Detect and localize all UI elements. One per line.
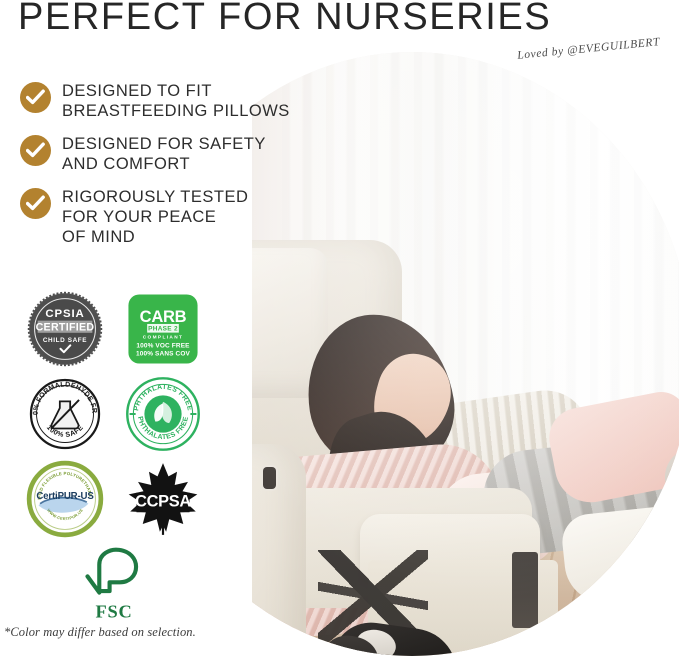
carb-compliant-label: COMPLIANT (143, 334, 184, 340)
carb-phase-2-badge: CARB PHASE 2 COMPLIANT 100% VOC FREE 100… (127, 293, 199, 365)
feature-line: DESIGNED TO FIT (62, 81, 290, 101)
badge-cell: CERTIFIED FLEXIBLE POLYURETHANE FOAM WWW… (16, 460, 114, 538)
feature-line: OF MIND (62, 227, 248, 247)
fsc-badge: FSC (77, 544, 151, 622)
list-item-label: DESIGNED FOR SAFETY AND COMFORT (62, 133, 266, 174)
photo-white-throw (560, 503, 679, 606)
feature-line: DESIGNED FOR SAFETY (62, 134, 266, 154)
feature-list: DESIGNED TO FIT BREASTFEEDING PILLOWS DE… (20, 80, 290, 259)
lifestyle-photo (252, 52, 679, 656)
badge-cell: PHTHALATES FREE PHTHALATES FREE (114, 376, 212, 452)
page-title: PERFECT FOR NURSERIES (18, 0, 551, 39)
photo-recliner-button (263, 467, 276, 489)
ccpsa-badge: CCPSA (124, 460, 202, 538)
list-item: DESIGNED FOR SAFETY AND COMFORT (20, 133, 290, 174)
flask-icon (51, 399, 79, 428)
cpsia-certified-label: CERTIFIED (36, 321, 95, 333)
badge-cell: 100% FORMALDEHYDE FREE 100% SAFE (16, 377, 114, 451)
check-circle-icon (20, 188, 51, 219)
photo-recliner-arm (252, 444, 306, 656)
certipur-us-badge: CERTIFIED FLEXIBLE POLYURETHANE FOAM WWW… (26, 460, 104, 538)
photo-recliner-mechanism-right (512, 552, 538, 628)
badge-row: CPSIA CERTIFIED CHILD SAFE CARB PHASE 2 … (16, 286, 212, 371)
lifestyle-photo-panel (252, 52, 679, 656)
feature-line: BREASTFEEDING PILLOWS (62, 101, 290, 121)
list-item: RIGOROUSLY TESTED FOR YOUR PEACE OF MIND (20, 186, 290, 247)
certipur-title: CertiPUR-US (36, 491, 94, 502)
carb-sans-cov-label: 100% SANS COV (136, 350, 191, 357)
badge-row: FSC (16, 541, 212, 625)
feature-line: FOR YOUR PEACE (62, 207, 248, 227)
badge-cell: CARB PHASE 2 COMPLIANT 100% VOC FREE 100… (114, 293, 212, 365)
carb-phase-label: PHASE 2 (148, 325, 178, 332)
list-item: DESIGNED TO FIT BREASTFEEDING PILLOWS (20, 80, 290, 121)
feature-line: RIGOROUSLY TESTED (62, 187, 248, 207)
cpsia-title: CPSIA (45, 307, 84, 319)
certification-badge-grid: CPSIA CERTIFIED CHILD SAFE CARB PHASE 2 … (16, 286, 212, 625)
list-item-label: RIGOROUSLY TESTED FOR YOUR PEACE OF MIND (62, 186, 248, 247)
carb-title: CARB (140, 306, 187, 325)
fsc-tree-checkmark-icon (88, 550, 137, 593)
feature-line: AND COMFORT (62, 154, 266, 174)
phthalates-free-badge: PHTHALATES FREE PHTHALATES FREE (125, 376, 201, 452)
check-circle-icon (20, 135, 51, 166)
badge-row: CERTIFIED FLEXIBLE POLYURETHANE FOAM WWW… (16, 456, 212, 541)
badge-cell: CCPSA (114, 460, 212, 538)
fsc-label: FSC (96, 602, 133, 622)
carb-voc-label: 100% VOC FREE (136, 342, 190, 349)
badge-cell: CPSIA CERTIFIED CHILD SAFE (16, 291, 114, 367)
cpsia-child-safe-label: CHILD SAFE (43, 336, 87, 343)
formaldehyde-free-badge: 100% FORMALDEHYDE FREE 100% SAFE (28, 377, 102, 451)
cpsia-certified-badge: CPSIA CERTIFIED CHILD SAFE (27, 291, 103, 367)
check-circle-icon (20, 82, 51, 113)
badge-row: 100% FORMALDEHYDE FREE 100% SAFE (16, 371, 212, 456)
list-item-label: DESIGNED TO FIT BREASTFEEDING PILLOWS (62, 80, 290, 121)
color-disclaimer: *Color may differ based on selection. (4, 625, 196, 640)
ccpsa-title: CCPSA (135, 492, 191, 510)
